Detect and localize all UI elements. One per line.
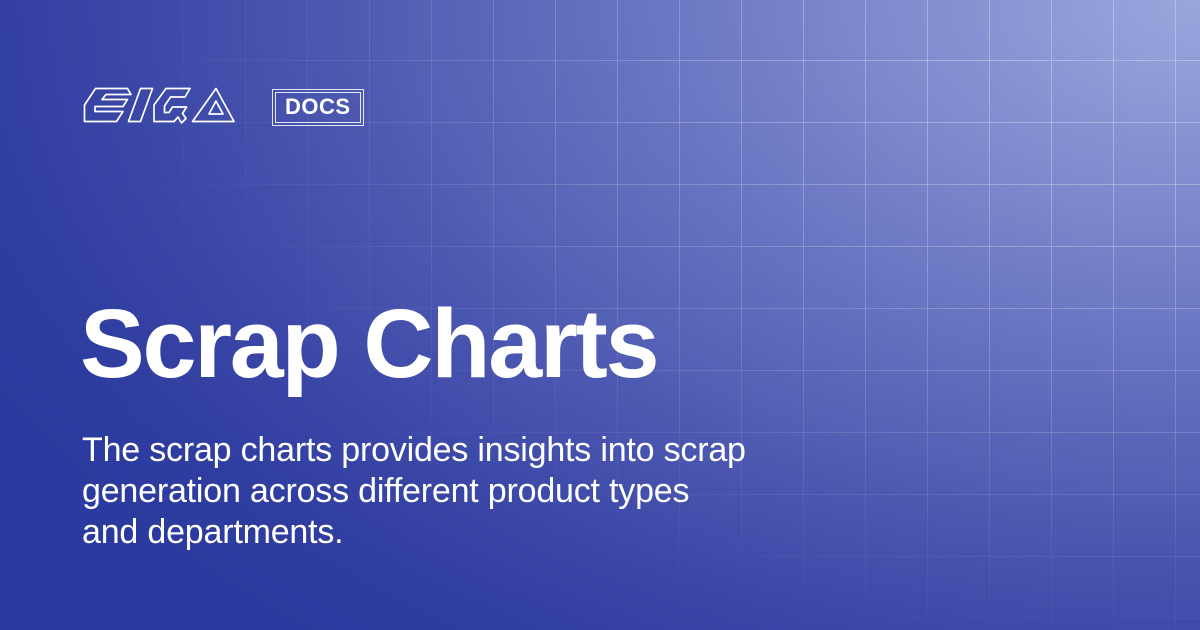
description-line-3: and departments. bbox=[82, 512, 902, 553]
docs-badge: DOCS bbox=[272, 89, 364, 126]
ciqa-wordmark-icon bbox=[82, 86, 258, 129]
docs-badge-inner: DOCS bbox=[275, 92, 361, 123]
hero-banner: DOCS Scrap Charts The scrap charts provi… bbox=[0, 0, 1200, 630]
docs-badge-label: DOCS bbox=[285, 96, 351, 118]
page-title: Scrap Charts bbox=[80, 295, 657, 392]
page-description: The scrap charts provides insights into … bbox=[82, 430, 902, 553]
description-line-2: generation across different product type… bbox=[82, 471, 902, 512]
brand-logo-lockup[interactable]: DOCS bbox=[82, 86, 364, 129]
description-line-1: The scrap charts provides insights into … bbox=[82, 430, 902, 471]
